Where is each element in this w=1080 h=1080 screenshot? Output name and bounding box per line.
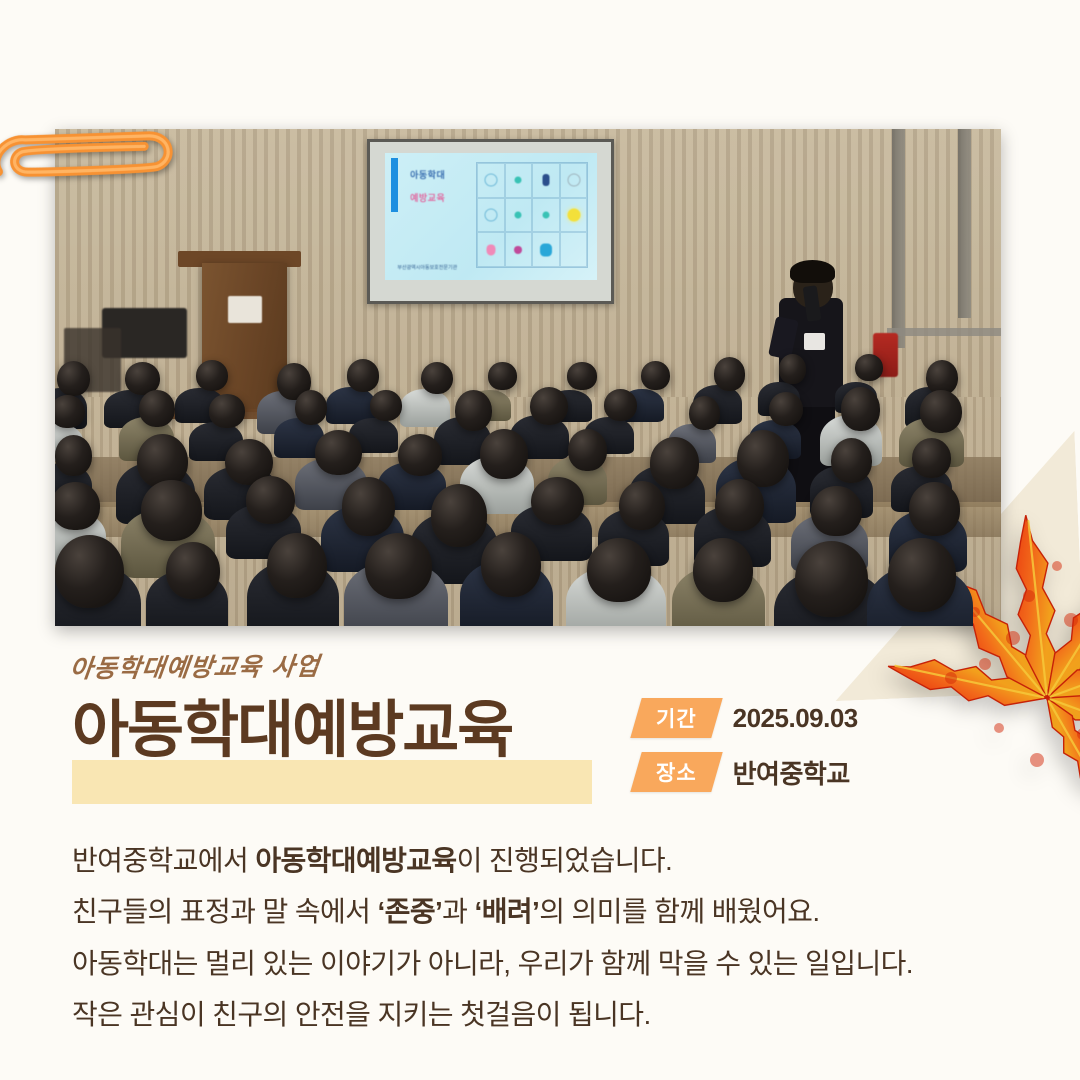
audience-head: [55, 535, 124, 608]
audience-head: [689, 396, 720, 430]
event-photo: 아동학대 예방교육 부산광역시아동보호전문기관: [55, 129, 1001, 626]
audience-head: [57, 361, 90, 397]
body-line: 작은 관심이 친구의 안전을 지키는 첫걸음이 됩니다.: [72, 992, 1012, 1037]
audience-head: [209, 394, 244, 427]
meta-value: 2025.09.03: [733, 703, 858, 734]
audience-head: [855, 354, 883, 381]
audience-head: [641, 361, 669, 390]
audience-head: [567, 362, 596, 389]
page-title: 아동학대예방교육: [72, 700, 512, 762]
slide-title-line1: 아동학대: [410, 168, 445, 181]
audience-head: [139, 390, 175, 428]
audience-head: [347, 359, 379, 391]
audience-head: [295, 390, 327, 425]
meta-badge-0: 기간: [630, 698, 722, 738]
audience-head: [811, 486, 861, 536]
audience-head: [431, 484, 488, 546]
event-meta: 기간2025.09.03장소반여중학교: [636, 698, 858, 806]
audience-head: [246, 476, 295, 524]
meta-value: 반여중학교: [733, 754, 850, 791]
meta-row: 장소반여중학교: [636, 752, 858, 792]
body-line: 친구들의 표정과 말 속에서 ‘존중’과 ‘배려’의 의미를 함께 배웠어요.: [72, 889, 1012, 934]
audience-head: [55, 435, 92, 476]
speaker-hair: [790, 260, 835, 283]
poster-title-wrap: 아동학대예방교육: [72, 700, 512, 762]
audience-head: [342, 477, 396, 535]
audience-head: [909, 482, 960, 536]
audience-head: [141, 480, 202, 540]
audience-head: [604, 389, 637, 421]
audience-head: [650, 437, 699, 488]
slide-footer: 부산광역시아동보호전문기관: [397, 264, 457, 271]
audience-head: [166, 542, 219, 599]
slide-content: 아동학대 예방교육 부산광역시아동보호전문기관: [385, 153, 597, 280]
audience-head: [370, 390, 401, 420]
poster-subtitle: 아동학대예방교육 사업: [68, 647, 322, 686]
audience-head: [693, 538, 753, 602]
audience-head: [587, 538, 651, 602]
audience-head: [920, 390, 962, 433]
audience-head: [715, 479, 765, 531]
meta-badge-label: 기간: [656, 703, 697, 733]
projector-screen: 아동학대 예방교육 부산광역시아동보호전문기관: [367, 139, 614, 304]
audience-head: [488, 362, 516, 389]
audience-head: [530, 387, 568, 425]
audience-head: [480, 429, 528, 479]
slide-icon-grid: [476, 162, 588, 268]
poster-content: 아동학대 예방교육 부산광역시아동보호전문기관: [0, 0, 1080, 1080]
poster-stage: 아동학대 예방교육 부산광역시아동보호전문기관: [0, 0, 1080, 1080]
audience-head: [737, 430, 789, 487]
audience-head: [779, 354, 806, 384]
title-highlight: [72, 760, 592, 804]
wall-post-b: [958, 129, 970, 318]
audience-head: [481, 532, 541, 597]
audience: [55, 348, 1001, 626]
audience-head: [196, 360, 228, 391]
school-emblem: [228, 296, 262, 323]
audience-head: [619, 481, 665, 531]
audience-head: [55, 482, 100, 529]
audience-head: [841, 387, 881, 431]
body-line: 반여중학교에서 아동학대예방교육이 진행되었습니다.: [72, 838, 1012, 883]
body-text: 반여중학교에서 아동학대예방교육이 진행되었습니다.친구들의 표정과 말 속에서…: [72, 838, 1012, 1043]
audience-head: [531, 477, 583, 526]
wall-rail: [887, 328, 1001, 336]
audience-head: [421, 362, 453, 395]
audience-head: [912, 438, 951, 478]
audience-head: [888, 538, 957, 612]
audience-head: [267, 533, 326, 598]
audience-head: [795, 541, 868, 616]
meta-row: 기간2025.09.03: [636, 698, 858, 738]
audience-head: [769, 392, 803, 426]
audience-shoulders: [400, 389, 450, 426]
audience-head: [315, 430, 361, 475]
audience-head: [365, 533, 432, 599]
audience-head: [55, 395, 85, 428]
wall-post-a: [892, 129, 904, 348]
audience-head: [714, 357, 746, 391]
audience-head: [455, 390, 492, 431]
slide-accent-bar: [391, 158, 398, 211]
meta-badge-1: 장소: [630, 752, 722, 792]
audience-head: [398, 434, 442, 475]
audience-head: [568, 429, 607, 471]
slide-title-line2: 예방교육: [410, 191, 445, 204]
body-line: 아동학대는 멀리 있는 이야기가 아니라, 우리가 함께 막을 수 있는 일입니…: [72, 941, 1012, 986]
meta-badge-label: 장소: [656, 757, 697, 787]
audience-head: [831, 438, 872, 483]
